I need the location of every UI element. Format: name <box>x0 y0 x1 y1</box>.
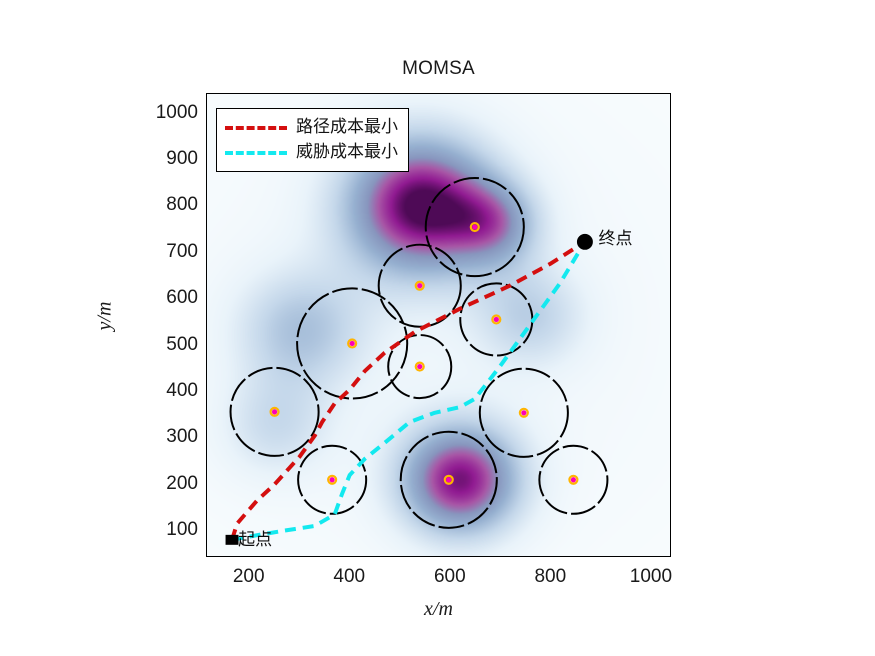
x-axis-tick-labels: 2004006008001000 <box>0 0 875 656</box>
x-tick-label-400: 400 <box>309 567 389 586</box>
start-point-label: 起点 <box>238 532 272 549</box>
figure-canvas: MOMSA 1002003004005006007008009001000 20… <box>0 0 875 656</box>
legend-item-min-threat-cost[interactable]: 威胁成本最小 <box>225 140 398 165</box>
legend-swatch-cyan-dashed-icon <box>225 151 287 155</box>
legend[interactable]: 路径成本最小 威胁成本最小 <box>216 108 409 172</box>
x-tick-label-200: 200 <box>209 567 289 586</box>
legend-label-min-threat-cost: 威胁成本最小 <box>296 144 398 161</box>
end-point-label: 终点 <box>599 231 633 248</box>
y-axis-label: y/m <box>94 302 117 331</box>
x-tick-label-1000: 1000 <box>611 567 691 586</box>
legend-item-min-path-cost[interactable]: 路径成本最小 <box>225 115 398 140</box>
x-tick-label-600: 600 <box>410 567 490 586</box>
legend-swatch-red-dashed-icon <box>225 126 287 130</box>
legend-label-min-path-cost: 路径成本最小 <box>296 119 398 136</box>
x-axis-label: x/m <box>206 598 671 621</box>
x-tick-label-800: 800 <box>510 567 590 586</box>
